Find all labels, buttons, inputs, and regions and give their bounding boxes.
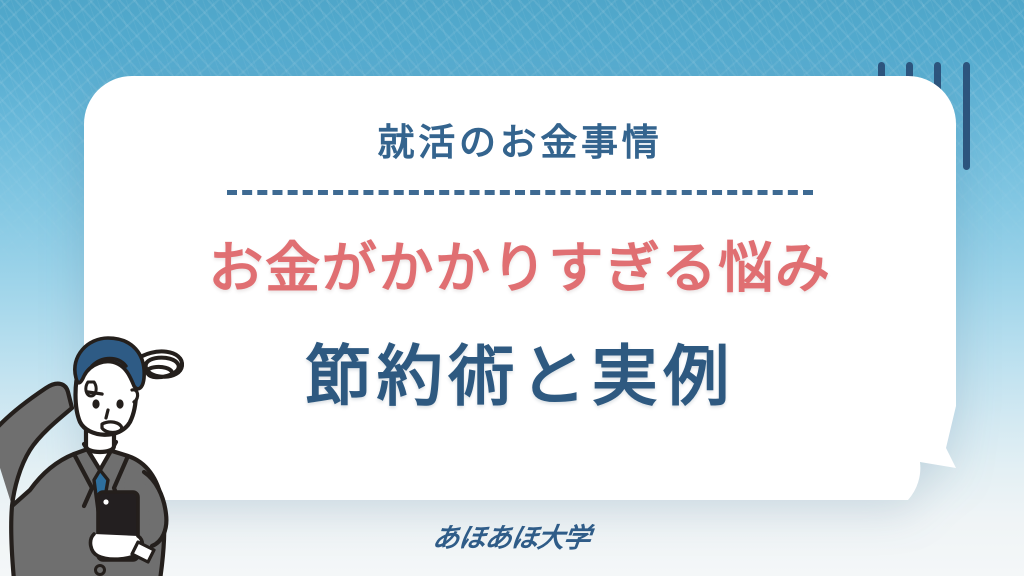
eyebrow-title: 就活のお金事情 <box>378 112 663 166</box>
headline-secondary: 節約術と実例 <box>305 323 735 419</box>
deco-bar-4 <box>963 62 970 170</box>
worried-businessman-illustration <box>0 330 234 576</box>
dashed-divider <box>227 190 813 195</box>
brand-logo-text: あほあほ大学 <box>431 516 593 555</box>
slide-canvas: 就活のお金事情 お金がかかりすぎる悩み 節約術と実例 あほあほ大学 <box>0 0 1024 576</box>
headline-primary: お金がかかりすぎる悩み <box>208 223 831 303</box>
